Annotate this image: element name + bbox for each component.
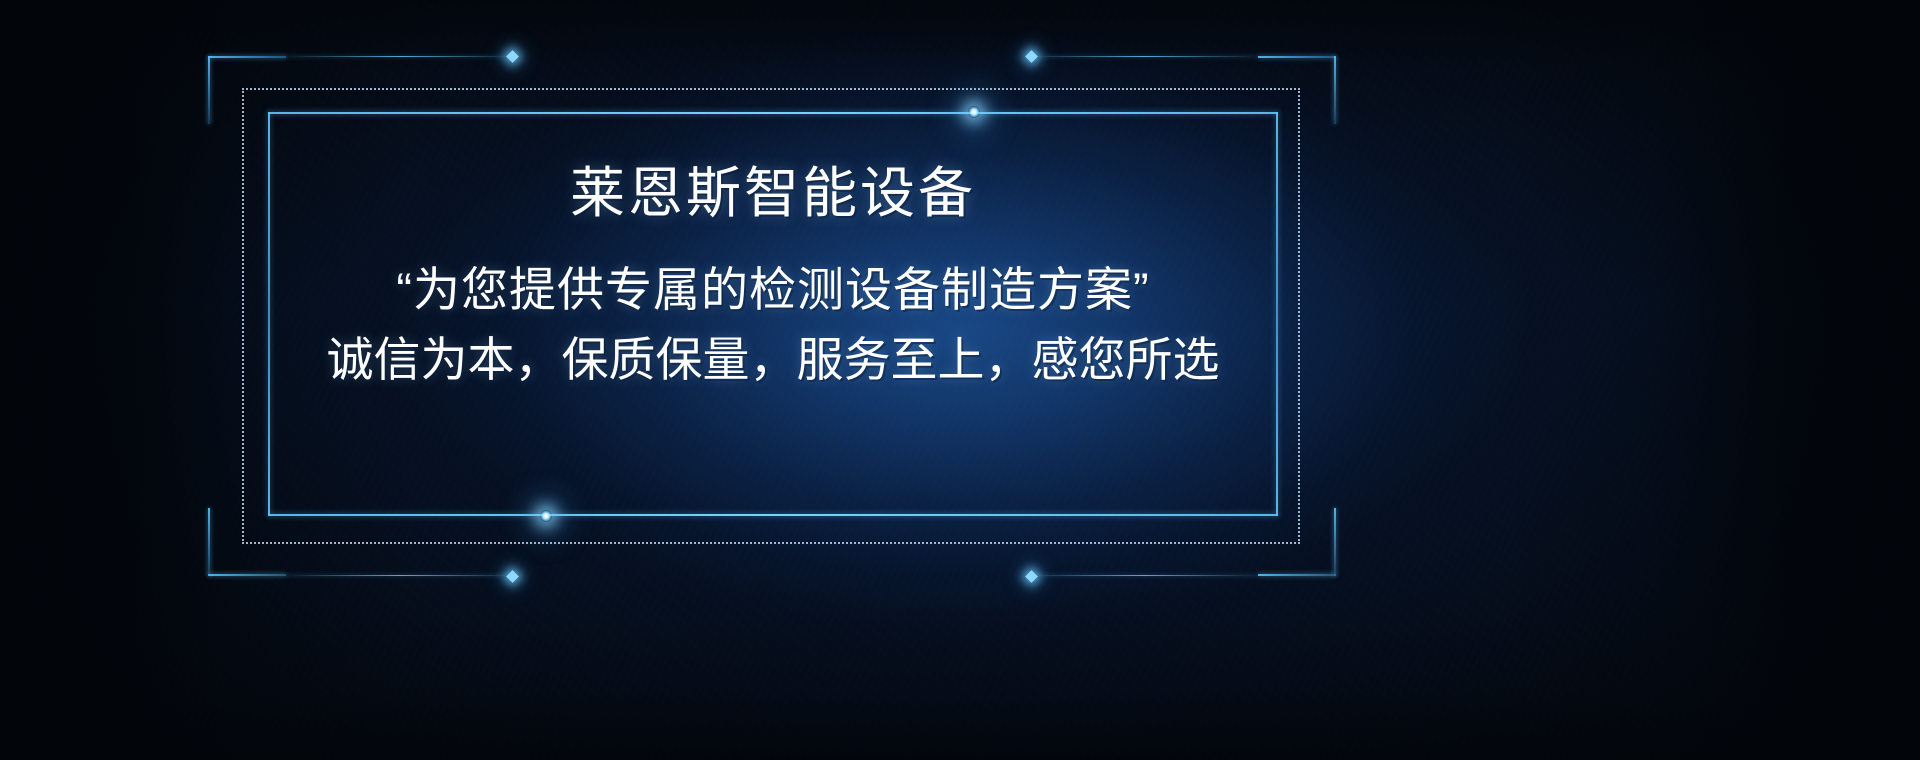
frame-line-top-left bbox=[286, 56, 516, 57]
banner-content: 莱恩斯智能设备 “为您提供专属的检测设备制造方案” 诚信为本，保质保量，服务至上… bbox=[268, 112, 1278, 516]
banner-slogan: 诚信为本，保质保量，服务至上，感您所选 bbox=[327, 334, 1220, 387]
banner-title: 莱恩斯智能设备 bbox=[570, 164, 976, 222]
frame-line-bottom-left bbox=[286, 575, 516, 576]
frame-line-bottom-right bbox=[1028, 575, 1258, 576]
banner-tagline: “为您提供专属的检测设备制造方案” bbox=[396, 264, 1149, 316]
hero-banner: 莱恩斯智能设备 “为您提供专属的检测设备制造方案” 诚信为本，保质保量，服务至上… bbox=[0, 0, 1920, 760]
frame-line-top-right bbox=[1028, 56, 1258, 57]
